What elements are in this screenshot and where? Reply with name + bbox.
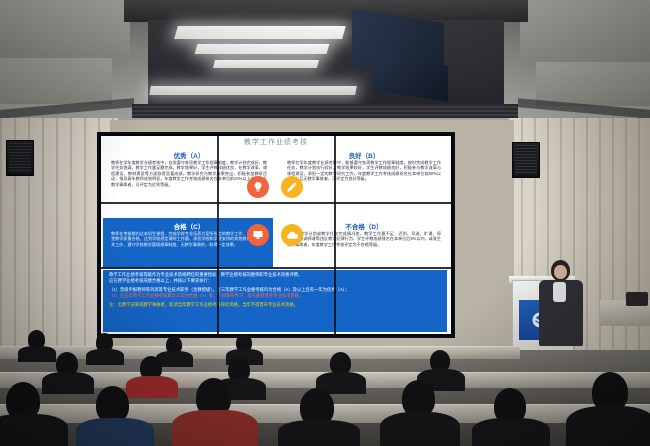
- audience-shoulders: [18, 346, 56, 362]
- audience-shoulders: [86, 349, 124, 365]
- audience-shoulders: [172, 410, 258, 446]
- banner-footnote: 注：无教学成果或教学事故者，取消当年教学工作业绩考核评优资格，当年不得晋升专业技…: [109, 302, 441, 308]
- ceiling-vent: [132, 104, 518, 118]
- ceiling-light: [149, 86, 357, 95]
- pencil-icon: [281, 176, 303, 198]
- quadrant-b-grade: 良好（B）: [287, 150, 441, 160]
- slide-title: 教学工作业绩考核: [101, 137, 451, 147]
- quadrant-d-body: 无明确教学计划或教学任务完成情况差，教学工作量不足、迟到、早退、旷课、停课、私自…: [287, 231, 441, 247]
- conference-room-photo: 教学工作业绩考核 优秀（A） 教师在学年度教学业绩考核中，自觉遵守各项教学工作规…: [0, 0, 650, 446]
- audience-shoulders: [380, 412, 460, 446]
- audience-shoulders: [126, 376, 178, 398]
- ceiling-panel: [0, 0, 130, 58]
- banner-sub: 应在教学业绩考核成绩合格以上，并按以下要求执行：: [109, 278, 441, 284]
- lightbulb-tree-icon: [247, 176, 269, 198]
- quadrant-c: 合格（C） 教师在考核期内达本科生课程、完成学校专业培养方案所规定的教学工作、主…: [105, 219, 273, 267]
- presenter-shirt: [553, 282, 566, 302]
- ceiling-panel: [0, 58, 112, 104]
- ceiling-panel: [536, 62, 650, 106]
- ceiling-light: [213, 60, 319, 68]
- ceiling-recess: [124, 0, 528, 22]
- banner: 教学工作业绩考核等级作为专业技术资格聘任的重要指标，教学业绩考核的教师职专业技术…: [109, 272, 441, 308]
- audience-shoulders: [566, 406, 650, 446]
- audience-shoulders: [0, 414, 68, 446]
- video-wall[interactable]: 教学工作业绩考核 优秀（A） 教师在学年度教学业绩考核中，自觉遵守各项教学工作规…: [99, 134, 453, 336]
- ceiling-light: [195, 44, 330, 54]
- quadrant-d-grade: 不合格（D）: [287, 221, 441, 231]
- side-monitor: [626, 292, 648, 306]
- audience-shoulders: [42, 372, 94, 394]
- audience-shoulders: [278, 420, 360, 446]
- quadrant-b-body: 教师在学年度教学业绩考核中，能够遵守各项教学工作规章制度，按时完成教学工作任务，…: [287, 160, 441, 182]
- quadrant-a-grade: 优秀（A）: [111, 150, 267, 160]
- quadrant-a-body: 教师在学年度教学业绩考核中，自觉遵守各项教学工作规章制度，教学计划完成好，教学任…: [111, 160, 267, 187]
- audience-shoulders: [472, 418, 550, 446]
- wall-speaker-left: [6, 140, 34, 176]
- presenter-face: [554, 265, 567, 279]
- quadrant-c-grade: 合格（C）: [111, 221, 267, 231]
- quadrant-d: 不合格（D） 无明确教学计划或教学任务完成情况差，教学工作量不足、迟到、早退、旷…: [281, 219, 447, 267]
- monitor-icon: [247, 224, 269, 246]
- ceiling-panel: [520, 0, 650, 62]
- ceiling-light: [174, 26, 346, 39]
- wall-speaker-right: [512, 142, 540, 178]
- cloud-icon: [281, 224, 303, 246]
- presentation-slide: 教学工作业绩考核 优秀（A） 教师在学年度教学业绩考核中，自觉遵守各项教学工作规…: [101, 136, 451, 334]
- banner-item: （2）近五年教学工作业绩考核累计三年为合格（A）者，在同等条件下，优先推荐晋升专…: [109, 293, 441, 299]
- audience-shoulders: [76, 418, 154, 446]
- quadrant-c-body: 教师在考核期内达本科生课程、完成学校专业培养方案所规定的教学工作、主讲课程课堂教…: [111, 231, 267, 247]
